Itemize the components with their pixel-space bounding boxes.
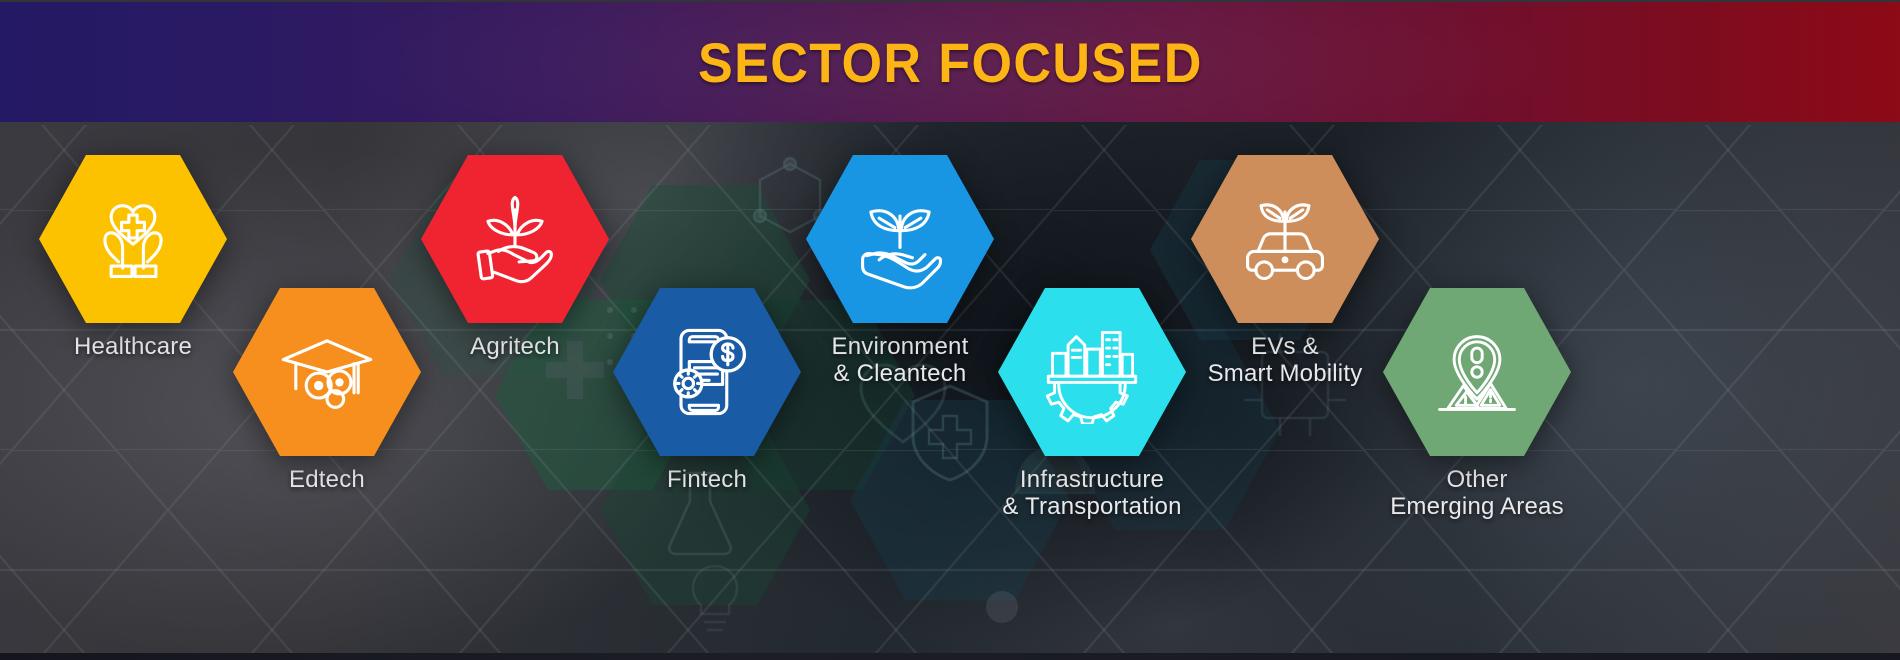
sector-item-other-emerging-areas[interactable]: Other Emerging Areas: [1362, 288, 1592, 521]
sector-label: Fintech: [667, 467, 747, 494]
hexagon-agritech[interactable]: [421, 155, 609, 323]
graduation-cap-gears-icon: [275, 320, 379, 424]
map-pin-terrain-icon: [1425, 320, 1529, 424]
hexagon-infrastructure-transportation[interactable]: [998, 288, 1186, 456]
sector-label: Edtech: [289, 467, 365, 494]
hexagon-other-emerging-areas[interactable]: [1383, 288, 1571, 456]
watermark-bulb-icon: [680, 560, 750, 640]
sector-label: Infrastructure & Transportation: [1002, 467, 1181, 521]
page-title: SECTOR FOCUSED: [698, 30, 1203, 95]
bottom-edge-strip: [0, 653, 1900, 660]
smartphone-dollar-gear-icon: [655, 320, 759, 424]
hexagon-edtech[interactable]: [233, 288, 421, 456]
hand-holding-sprout-icon: [463, 187, 567, 291]
sector-label: Environment & Cleantech: [832, 334, 969, 388]
electric-car-leaf-icon: [1233, 187, 1337, 291]
sector-label: EVs & Smart Mobility: [1208, 334, 1363, 388]
hexagon-healthcare[interactable]: [39, 155, 227, 323]
sector-label: Other Emerging Areas: [1390, 467, 1564, 521]
title-banner: SECTOR FOCUSED: [0, 2, 1900, 122]
city-buildings-gear-icon: [1040, 320, 1144, 424]
sector-focused-slide: SECTOR FOCUSED Healthcare: [0, 0, 1900, 660]
sector-label: Agritech: [470, 334, 560, 361]
hand-holding-leaf-icon: [848, 187, 952, 291]
hexagon-evs-smart-mobility[interactable]: [1191, 155, 1379, 323]
hexagon-environment-cleantech[interactable]: [806, 155, 994, 323]
sector-label: Healthcare: [74, 334, 192, 361]
hands-holding-heart-cross-icon: [81, 187, 185, 291]
hexagon-fintech[interactable]: [613, 288, 801, 456]
